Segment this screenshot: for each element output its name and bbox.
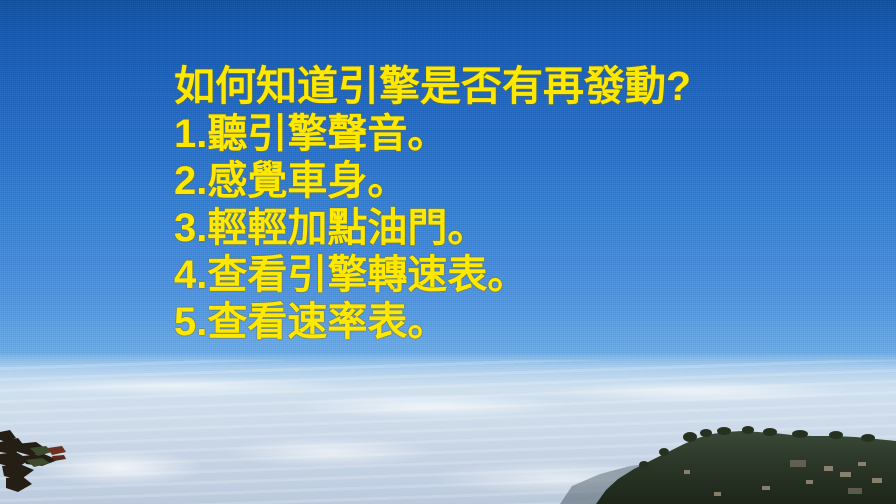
list-item-3: 3.輕輕加點油門。 — [174, 205, 874, 252]
list-item-5: 5.查看速率表。 — [174, 299, 874, 346]
list-item-4: 4.查看引擎轉速表。 — [174, 252, 874, 299]
list-item-2: 2.感覺車身。 — [174, 158, 874, 205]
slide-text-block: 如何知道引擎是否有再發動? 1.聽引擎聲音。 2.感覺車身。 3.輕輕加點油門。… — [174, 62, 874, 346]
slide-canvas: 如何知道引擎是否有再發動? 1.聽引擎聲音。 2.感覺車身。 3.輕輕加點油門。… — [0, 0, 896, 504]
list-item-1: 1.聽引擎聲音。 — [174, 111, 874, 158]
slide-heading: 如何知道引擎是否有再發動? — [174, 62, 874, 111]
